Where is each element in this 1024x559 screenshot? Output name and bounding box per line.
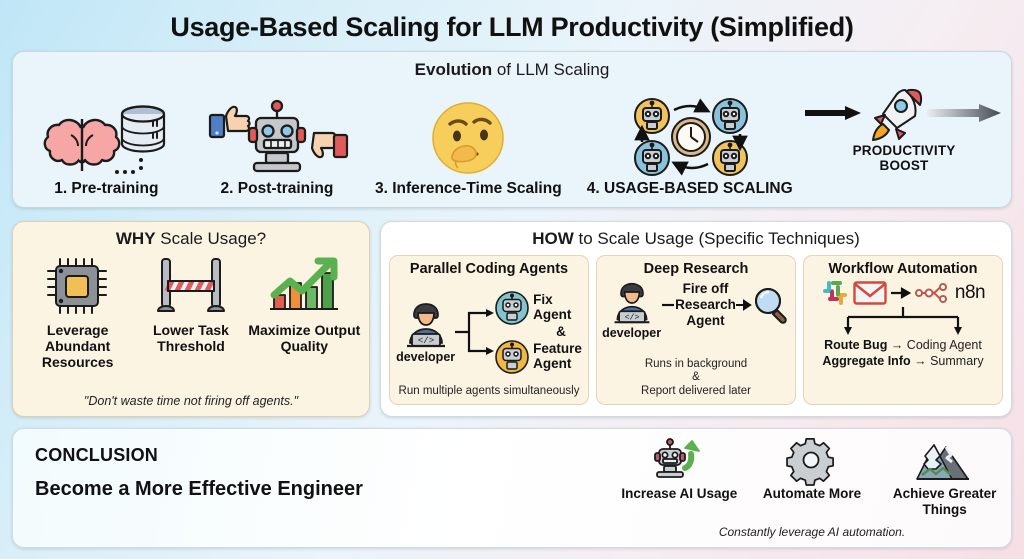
- arrow-glyph: →: [891, 338, 907, 352]
- outcome-increase-ai-usage: Increase AI Usage: [619, 437, 739, 517]
- why-panel: WHY Scale Usage? Lev: [12, 221, 370, 417]
- gmail-icon: [853, 280, 887, 306]
- thinking-face-icon: [422, 98, 514, 176]
- workflow-output-from: Aggregate Info: [822, 354, 910, 368]
- research-line-2: Research: [675, 297, 736, 313]
- how-card-list: Parallel Coding Agents </> developer: [389, 255, 1003, 405]
- why-item-list: Leverage Abundant Resources Lower Task: [21, 254, 361, 371]
- developer-label: developer: [602, 326, 661, 340]
- agent-column: Fix Agent &: [495, 291, 582, 374]
- research-line-1: Fire off: [675, 281, 736, 297]
- arrow-glyph: →: [914, 354, 930, 368]
- page-title: Usage-Based Scaling for LLM Productivity…: [0, 0, 1024, 48]
- why-item-threshold: Lower Task Threshold: [135, 254, 247, 371]
- growth-chart-icon: [248, 254, 360, 318]
- footer-line-3: Report delivered later: [641, 385, 751, 399]
- agent-line-2: Agent: [533, 357, 582, 372]
- why-heading: WHY Scale Usage?: [21, 229, 361, 249]
- evolution-stage-label: 4. USAGE-BASED SCALING: [587, 180, 793, 198]
- arrow-right-icon: [891, 287, 911, 299]
- how-heading: HOW to Scale Usage (Specific Techniques): [389, 229, 1003, 249]
- boost-line-1: PRODUCTIVITY: [853, 143, 956, 159]
- arrow-right-icon: [736, 300, 752, 310]
- evolution-heading-rest: of LLM Scaling: [492, 60, 609, 79]
- arrow-right-icon: [805, 105, 865, 121]
- evolution-panel: Evolution of LLM Scaling: [12, 51, 1012, 208]
- feature-agent-label: Feature Agent: [533, 342, 582, 372]
- mountain-icon: [885, 437, 1005, 485]
- developer-block: </> developer: [396, 301, 455, 364]
- conclusion-text-block: CONCLUSION Become a More Effective Engin…: [13, 429, 613, 547]
- developer-label: developer: [396, 350, 455, 364]
- outcome-list: Increase AI Usage Automate More: [613, 437, 1011, 517]
- agent-conjunction: &: [495, 325, 582, 340]
- boost-line-2: BOOST: [853, 158, 956, 174]
- dash-connector-icon: [661, 300, 675, 310]
- evolution-stage-label: 2. Post-training: [221, 180, 334, 198]
- how-heading-bold: HOW: [532, 229, 574, 248]
- outcome-label: Achieve Greater Things: [885, 486, 1005, 517]
- outcome-automate-more: Automate More: [752, 437, 872, 517]
- magnifier-icon: [752, 286, 790, 324]
- evolution-stage-label: 1. Pre-training: [54, 180, 158, 198]
- why-quote: "Don't waste time not firing off agents.…: [13, 394, 369, 408]
- how-panel: HOW to Scale Usage (Specific Techniques)…: [380, 221, 1012, 417]
- developer-icon: </>: [402, 301, 450, 349]
- outcome-achieve-greater-things: Achieve Greater Things: [885, 437, 1005, 517]
- svg-text:</>: </>: [418, 336, 434, 346]
- evolution-stage-usage-based: 4. USAGE-BASED SCALING: [574, 80, 805, 198]
- workflow-split-arrows-icon: [828, 307, 978, 337]
- agent-line-1: Feature: [533, 342, 582, 357]
- how-card-workflow-automation[interactable]: Workflow Automation: [803, 255, 1003, 405]
- evolution-stage-inference-time: 3. Inference-Time Scaling: [362, 80, 574, 198]
- workflow-output-to: Coding Agent: [907, 338, 982, 352]
- footer-line-1: Runs in background: [641, 358, 751, 372]
- agent-clock-loop-icon: [620, 98, 760, 176]
- conclusion-headline: Become a More Effective Engineer: [35, 478, 613, 501]
- how-card-title: Parallel Coding Agents: [410, 261, 568, 277]
- workflow-tools-row: n8n: [821, 279, 985, 307]
- how-card-title: Deep Research: [644, 261, 749, 277]
- outcome-label: Increase AI Usage: [619, 486, 739, 502]
- workflow-output-row: Route Bug → Coding Agent: [822, 337, 983, 353]
- svg-text:</>: </>: [624, 313, 639, 323]
- robot-up-arrow-icon: [619, 437, 739, 485]
- how-card-diagram: </> developer Fire off Research Agent: [601, 279, 791, 358]
- conclusion-outcomes-block: Increase AI Usage Automate More: [613, 429, 1011, 547]
- productivity-boost-caption: PRODUCTIVITY BOOST: [853, 143, 956, 174]
- branch-arrow-icon: [455, 301, 495, 363]
- productivity-boost-row: [805, 84, 1003, 142]
- rocket-icon: [865, 84, 927, 142]
- how-card-diagram: </> developer: [394, 279, 584, 385]
- gear-icon: [752, 437, 872, 485]
- how-heading-rest: to Scale Usage (Specific Techniques): [574, 229, 860, 248]
- arrow-right-gradient-icon: [927, 103, 1003, 123]
- how-card-footer: Runs in background & Report delivered la…: [641, 358, 751, 399]
- why-item-quality: Maximize Output Quality: [248, 254, 360, 371]
- why-heading-rest: Scale Usage?: [156, 229, 267, 248]
- outcome-label: Automate More: [752, 486, 872, 502]
- evolution-stage-list: 1. Pre-training: [13, 80, 1011, 198]
- conclusion-panel: CONCLUSION Become a More Effective Engin…: [12, 428, 1012, 548]
- evolution-stage-post-training: 2. Post-training: [192, 80, 363, 198]
- brain-database-icon: [41, 98, 171, 176]
- why-item-resources: Leverage Abundant Resources: [22, 254, 134, 371]
- evolution-heading: Evolution of LLM Scaling: [13, 60, 1011, 80]
- n8n-icon: [915, 281, 951, 305]
- fix-agent-label: Fix Agent: [533, 293, 571, 323]
- why-heading-bold: WHY: [116, 229, 156, 248]
- why-item-label: Lower Task Threshold: [135, 322, 247, 354]
- feature-agent-icon: [495, 340, 529, 374]
- conclusion-footnote: Constantly leverage AI automation.: [613, 525, 1011, 539]
- cpu-chip-icon: [22, 254, 134, 318]
- research-line-3: Agent: [675, 313, 736, 329]
- evolution-stage-pre-training: 1. Pre-training: [21, 80, 192, 198]
- why-item-label: Leverage Abundant Resources: [22, 322, 134, 371]
- conclusion-kicker: CONCLUSION: [35, 445, 613, 466]
- developer-icon: </>: [610, 281, 654, 325]
- evolution-heading-bold: Evolution: [415, 60, 492, 79]
- slack-icon: [821, 279, 849, 307]
- developer-block: </> developer: [602, 281, 661, 340]
- how-card-footer: Run multiple agents simultaneously: [399, 385, 580, 399]
- robot-thumbs-icon: [202, 98, 352, 176]
- productivity-boost-block: PRODUCTIVITY BOOST: [805, 80, 1003, 198]
- why-item-label: Maximize Output Quality: [248, 322, 360, 354]
- research-action-label: Fire off Research Agent: [675, 281, 736, 329]
- how-card-deep-research[interactable]: Deep Research </> developer: [596, 255, 796, 405]
- footer-line-2: &: [641, 371, 751, 385]
- workflow-output-to: Summary: [930, 354, 983, 368]
- how-card-title: Workflow Automation: [828, 261, 977, 277]
- workflow-outputs: Route Bug → Coding Agent Aggregate Info …: [822, 337, 983, 370]
- agent-line-2: Agent: [533, 308, 571, 323]
- how-card-parallel-coding-agents[interactable]: Parallel Coding Agents </> developer: [389, 255, 589, 405]
- evolution-stage-label: 3. Inference-Time Scaling: [375, 180, 562, 198]
- n8n-label: n8n: [955, 282, 985, 304]
- barrier-icon: [135, 254, 247, 318]
- fix-agent-icon: [495, 291, 529, 325]
- workflow-output-row: Aggregate Info → Summary: [822, 353, 983, 369]
- agent-line-1: Fix: [533, 293, 571, 308]
- workflow-output-from: Route Bug: [824, 338, 887, 352]
